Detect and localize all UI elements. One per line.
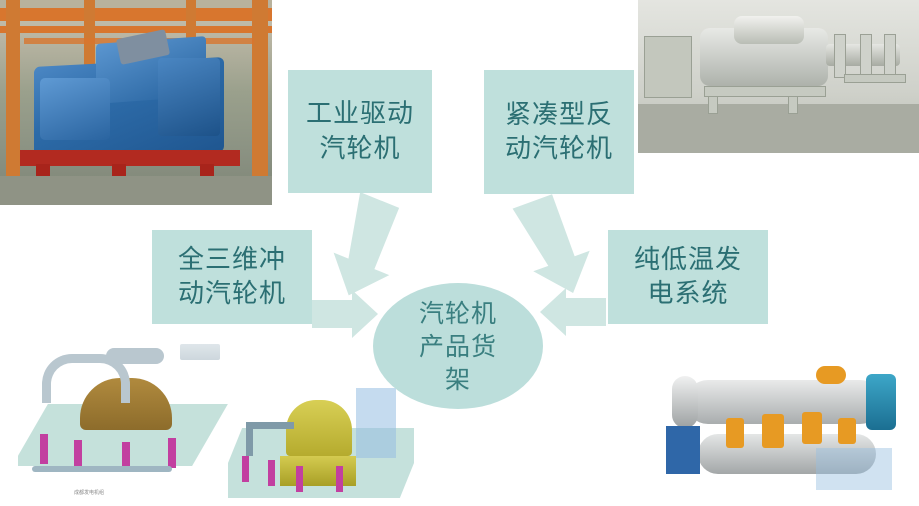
node-line-1: 紧凑型反 — [505, 98, 613, 132]
photo-factory-blue-turbine — [0, 0, 272, 205]
center-line-2: 产品货 — [419, 330, 497, 363]
arrow-compact-to-center — [511, 189, 602, 303]
cad-logo — [180, 344, 220, 360]
node-line-2: 动汽轮机 — [505, 132, 613, 166]
node-pure-low-temp-power-system[interactable]: 纯低温发 电系统 — [608, 230, 768, 324]
node-line-1: 纯低温发 — [634, 243, 742, 277]
photo-cad-turbine-module: 成都发电机组 — [18, 338, 228, 498]
node-line-2: 动汽轮机 — [178, 277, 286, 311]
node-line-2: 电系统 — [634, 277, 742, 311]
node-line-2: 汽轮机 — [306, 132, 414, 166]
photo-cad-green-turbine — [228, 370, 414, 498]
center-line-3: 架 — [419, 363, 497, 396]
arrow-impulse-to-center — [312, 290, 378, 338]
node-full-3d-impulse-turbine[interactable]: 全三维冲 动汽轮机 — [152, 230, 312, 324]
photo-chiller-unit-render — [666, 340, 916, 500]
arrow-industrial-to-center — [321, 191, 414, 306]
node-line-1: 全三维冲 — [178, 243, 286, 277]
node-center-product-shelf[interactable]: 汽轮机 产品货 架 — [373, 283, 543, 409]
center-line-1: 汽轮机 — [419, 297, 497, 330]
cad-caption: 成都发电机组 — [74, 489, 104, 496]
node-industrial-drive-turbine[interactable]: 工业驱动 汽轮机 — [288, 70, 432, 193]
node-compact-reaction-turbine[interactable]: 紧凑型反 动汽轮机 — [484, 70, 634, 194]
photo-grey-turbine-render — [638, 0, 919, 153]
arrow-lowtemp-to-center — [540, 288, 606, 336]
slide-canvas: 成都发电机组 — [0, 0, 919, 506]
node-line-1: 工业驱动 — [306, 97, 414, 131]
